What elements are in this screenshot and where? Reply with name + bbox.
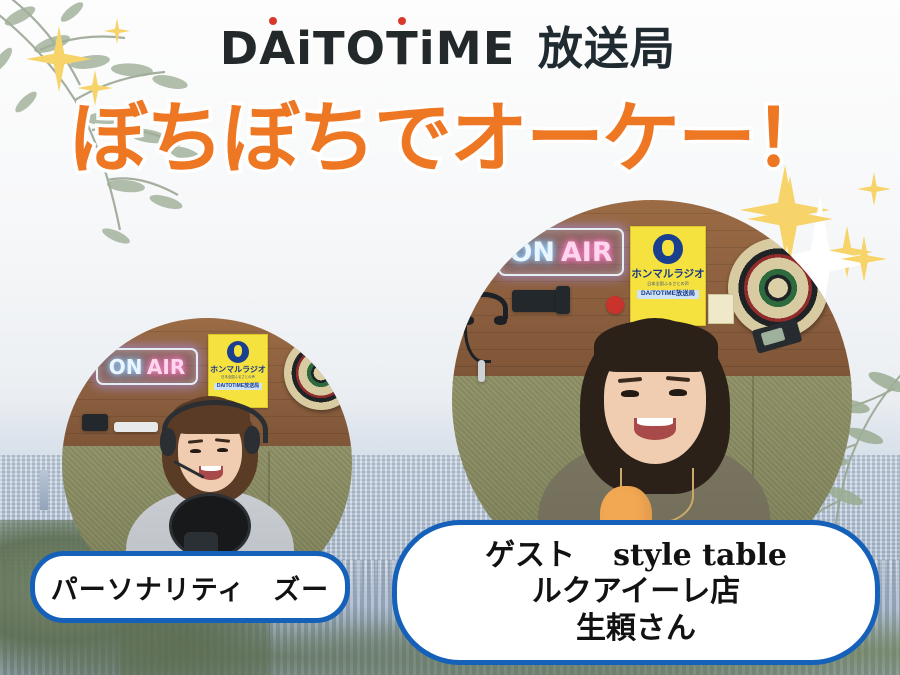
guest-caption-label: ゲスト	[485, 538, 575, 575]
headset-cup-left	[160, 428, 176, 456]
guest-person-name: 生頼さん	[576, 611, 696, 648]
program-logo-jp: 放送局	[538, 26, 676, 71]
headphones-icon	[460, 292, 508, 319]
logo-dot-icon	[398, 17, 406, 25]
award-plaque	[708, 294, 734, 324]
program-logo-en: DAiTOTiME	[220, 26, 516, 71]
guest-eye-right	[669, 389, 687, 396]
guest-mouth	[634, 418, 676, 440]
poster-title: ホンマルラジオ	[631, 269, 704, 280]
poster-mic-logo-icon	[653, 234, 683, 264]
guest-shop-name: style table	[613, 538, 787, 575]
guest-caption-row1: ゲスト style table	[485, 538, 787, 575]
wall-equipment-box	[82, 414, 108, 431]
wall-equipment-box	[556, 286, 570, 314]
guest-branch-name: ルクアイーレ店	[532, 574, 741, 611]
mic-on-hook	[478, 360, 485, 382]
poster-band: DAiTOTiME放送局	[214, 383, 263, 390]
guest-eye-left	[621, 390, 639, 397]
logo-dot-icon	[269, 17, 277, 25]
poster-subtitle: 日本全国ふるさとの声	[221, 376, 255, 379]
on-air-sign: ON AIR	[96, 348, 198, 385]
poster-title: ホンマルラジオ	[210, 366, 266, 374]
personality-eye-right	[217, 448, 228, 452]
on-air-sign: ON AIR	[498, 228, 624, 276]
guest-caption: ゲスト style table ルクアイーレ店 生頼さん	[392, 520, 880, 665]
on-air-air-text: AIR	[147, 355, 185, 379]
honmaru-radio-poster: ホンマルラジオ 日本全国ふるさとの声 DAiTOTiME放送局	[630, 226, 706, 326]
headset-cup-right	[244, 426, 260, 454]
thumbnail-canvas: DAiTOTiME 放送局 ぼちぼちでオーケー！ ON AIR ホンマルラジオ	[0, 0, 900, 675]
poster-mic-logo-icon	[227, 341, 249, 363]
poster-subtitle: 日本全国ふるさとの声	[647, 282, 689, 286]
personality-caption-text: パーソナリティ ズー	[51, 568, 329, 607]
tower	[40, 470, 48, 510]
program-logo: DAiTOTiME 放送局	[0, 26, 900, 71]
poster-band: DAiTOTiME放送局	[637, 290, 699, 298]
on-air-on-text: ON	[109, 355, 143, 379]
wall-router	[114, 422, 158, 432]
page-title-text: ぼちぼちでオーケー！	[70, 94, 830, 184]
personality-caption: パーソナリティ ズー	[30, 551, 350, 623]
page-title: ぼちぼちでオーケー！	[0, 100, 900, 178]
sticker-badge-icon	[606, 296, 624, 314]
personality-eye-left	[190, 449, 201, 453]
on-air-air-text: AIR	[561, 237, 613, 268]
on-air-on-text: ON	[509, 237, 555, 268]
guest-fringe	[594, 320, 718, 372]
